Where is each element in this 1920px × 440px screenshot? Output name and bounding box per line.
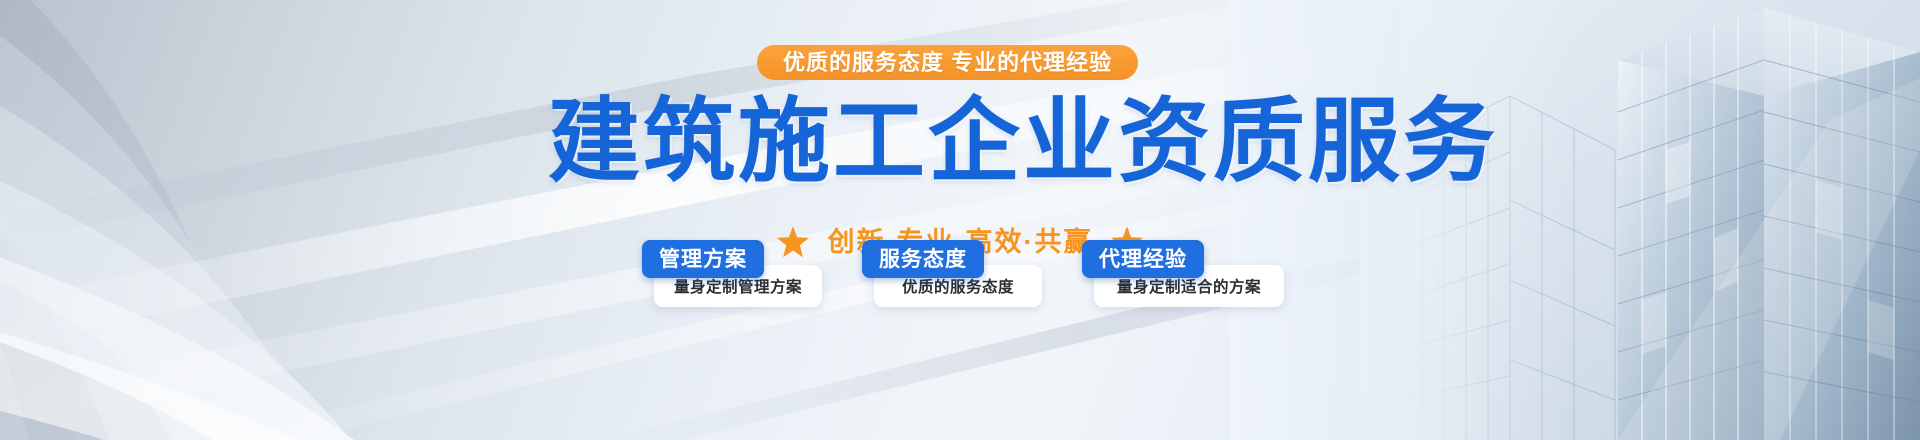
feature-card-tab[interactable]: 管理方案 xyxy=(642,240,764,278)
feature-card-description: 量身定制管理方案 xyxy=(674,275,802,297)
feature-card-management[interactable]: 量身定制管理方案 管理方案 xyxy=(642,240,814,320)
feature-card-tab[interactable]: 代理经验 xyxy=(1082,240,1204,278)
banner-content: 优质的服务态度 专业的代理经验 建筑施工企业资质服务 创新·专业·高效·共赢 量… xyxy=(0,0,1920,440)
feature-card-list: 量身定制管理方案 管理方案 优质的服务态度 服务态度 量身定制适合的方案 xyxy=(0,240,1920,320)
tagline-badge-text: 优质的服务态度 专业的代理经验 xyxy=(783,52,1112,74)
promo-banner: 优质的服务态度 专业的代理经验 建筑施工企业资质服务 创新·专业·高效·共赢 量… xyxy=(0,0,1920,440)
feature-card-tab-label: 代理经验 xyxy=(1099,249,1187,270)
feature-card-description: 量身定制适合的方案 xyxy=(1117,275,1261,297)
feature-card-experience[interactable]: 量身定制适合的方案 代理经验 xyxy=(1082,240,1278,320)
feature-card-service[interactable]: 优质的服务态度 服务态度 xyxy=(862,240,1034,320)
feature-card-tab-label: 服务态度 xyxy=(879,249,967,270)
feature-card-tab-label: 管理方案 xyxy=(659,249,747,270)
feature-card-description: 优质的服务态度 xyxy=(902,275,1014,297)
tagline-badge: 优质的服务态度 专业的代理经验 xyxy=(757,45,1138,80)
page-title: 建筑施工企业资质服务 xyxy=(548,96,1378,188)
feature-card-tab[interactable]: 服务态度 xyxy=(862,240,984,278)
